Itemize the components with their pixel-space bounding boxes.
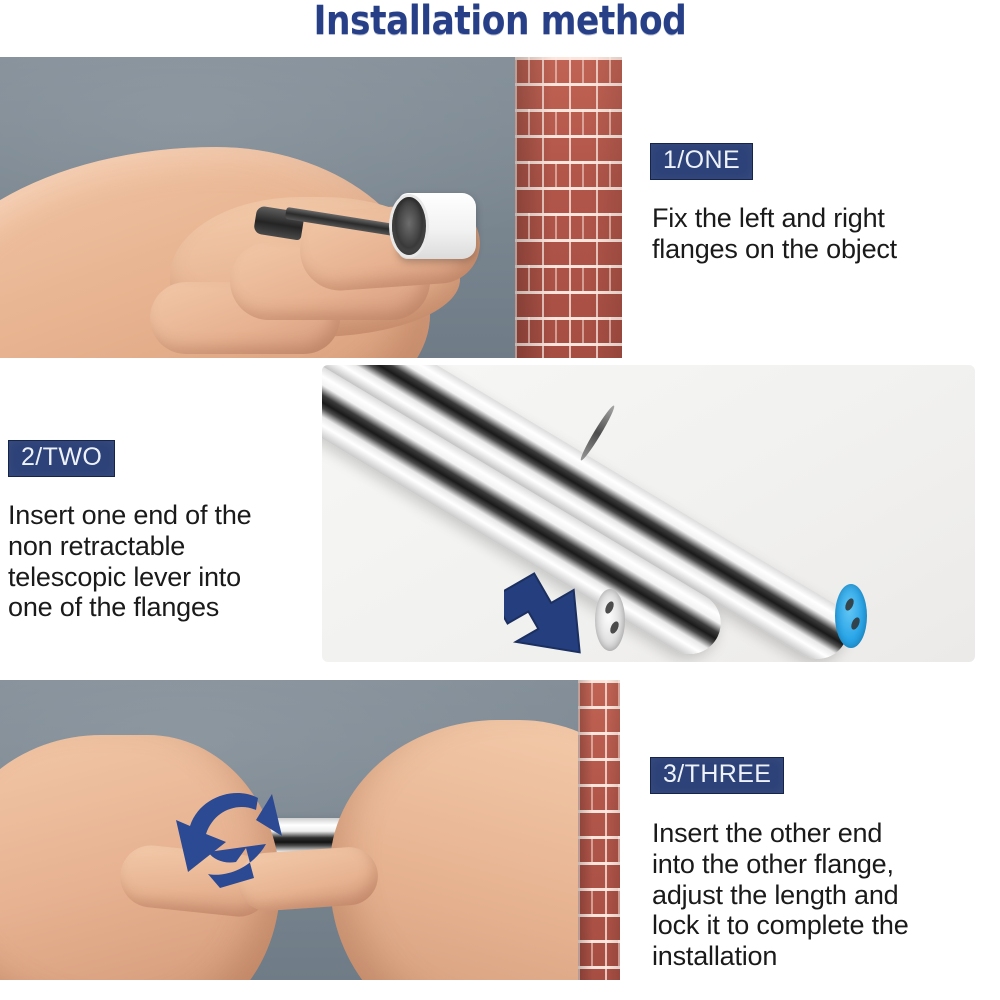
step-2-image	[322, 365, 975, 662]
step-1-image	[0, 57, 622, 358]
step-2-badge: 2/TWO	[8, 440, 115, 477]
page-title: Installation method	[70, 0, 930, 44]
step-3-badge: 3/THREE	[650, 757, 784, 794]
step-1-badge: 1/ONE	[650, 143, 753, 180]
flange-bore	[392, 197, 426, 255]
step-1-caption: Fix the left and right flanges on the ob…	[652, 203, 982, 265]
installation-infographic: Installation method 1/ONE Fix the left a…	[0, 0, 1000, 1000]
step-2-caption: Insert one end of the non retractable te…	[8, 500, 313, 623]
step-3-image	[0, 680, 620, 980]
step-3-caption: Insert the other end into the other flan…	[652, 818, 987, 972]
rotation-arrow-icon	[160, 780, 290, 910]
brick-shading	[578, 680, 620, 980]
rod-lock-band	[578, 404, 617, 462]
rod-cap-blue	[835, 584, 867, 648]
brick-shading	[515, 57, 622, 358]
arrow-down-right-icon	[504, 555, 619, 660]
brick-wall	[578, 680, 620, 980]
brick-wall	[515, 57, 622, 358]
